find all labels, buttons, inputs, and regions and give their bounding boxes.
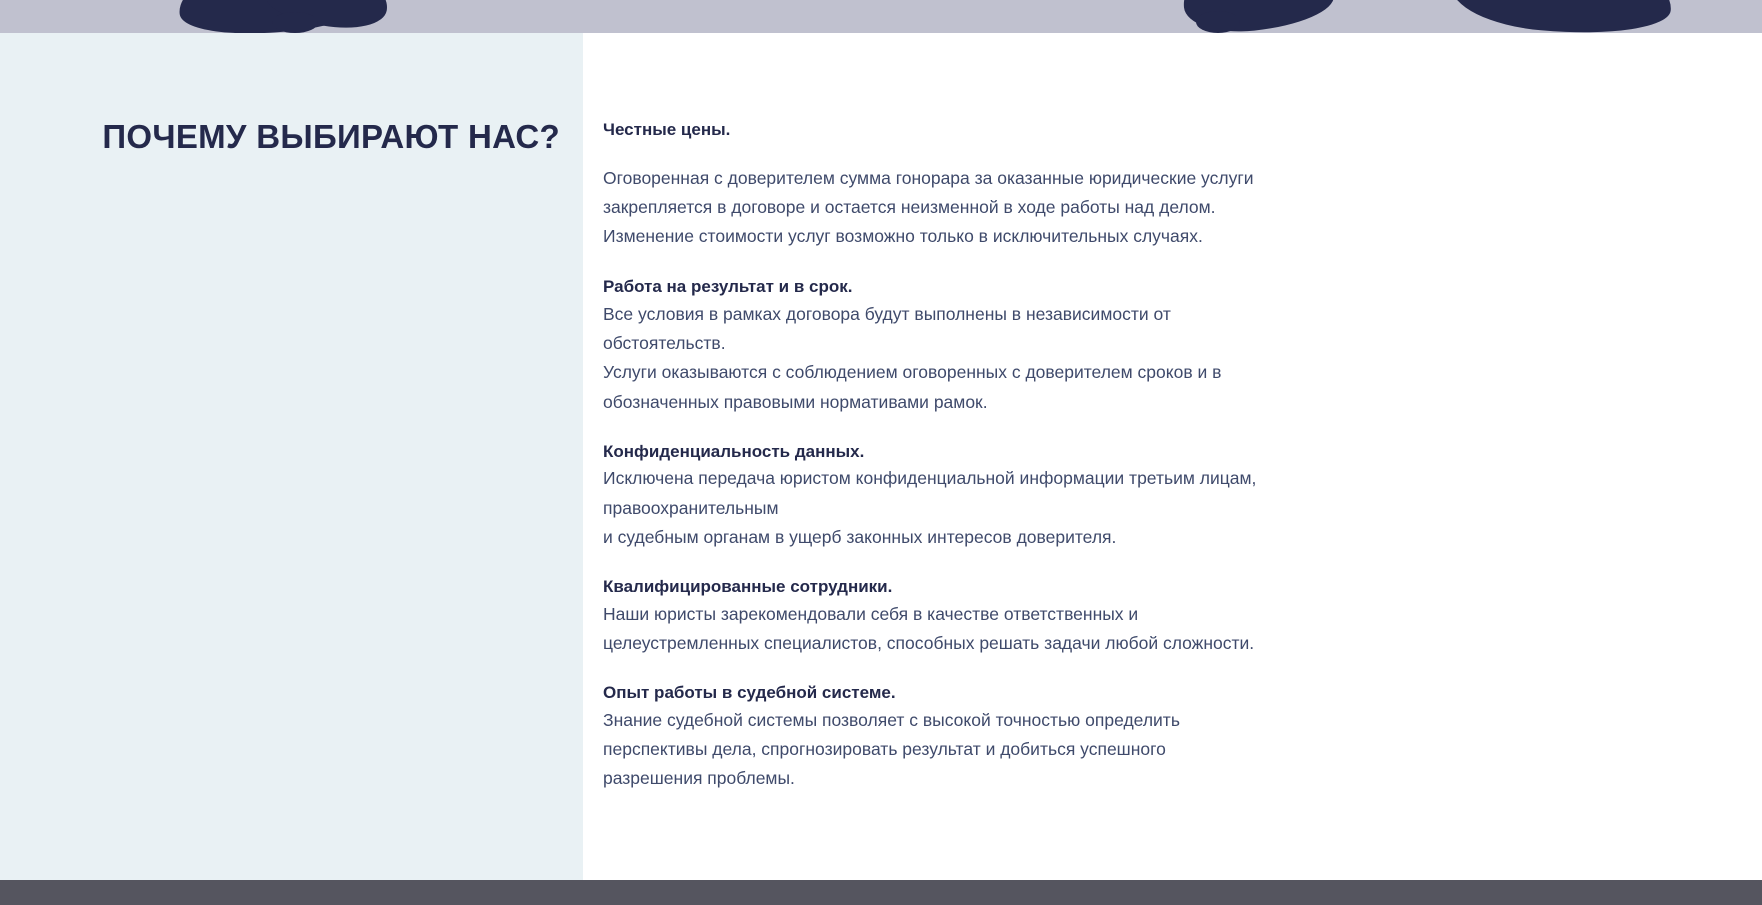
benefit-line: целеустремленных специалистов, способных… [603,629,1703,658]
decorative-blob-left-dot [272,12,318,33]
benefit-line: закрепляется в договоре и остается неизм… [603,193,1703,222]
right-content-panel: Честные цены. Оговоренная с доверителем … [583,33,1762,880]
decorative-blob-right-dot [1196,11,1240,33]
left-title-panel: ПОЧЕМУ ВЫБИРАЮТ НАС? [0,33,583,880]
benefit-heading: Квалифицированные сотрудники. [603,575,1703,600]
benefit-block: Конфиденциальность данных. Исключена пер… [603,440,1703,552]
benefit-heading: Работа на результат и в срок. [603,275,1703,300]
benefit-heading: Честные цены. [603,118,1703,143]
benefit-block: Квалифицированные сотрудники. Наши юрист… [603,575,1703,658]
benefit-block: Работа на результат и в срок. Все услови… [603,275,1703,417]
benefit-line: Оговоренная с доверителем сумма гонорара… [603,164,1703,193]
benefit-line: и судебным органам в ущерб законных инте… [603,523,1703,552]
benefit-line: правоохранительным [603,494,1703,523]
benefit-block: Опыт работы в судебной системе. Знание с… [603,681,1703,793]
footer-bar [0,880,1762,905]
top-decorative-banner [0,0,1762,33]
benefit-line: обстоятельств. [603,329,1703,358]
benefits-list: Честные цены. Оговоренная с доверителем … [603,118,1703,793]
benefit-line: Знание судебной системы позволяет с высо… [603,706,1703,735]
page-title: ПОЧЕМУ ВЫБИРАЮТ НАС? [40,118,560,156]
benefit-line: перспективы дела, спрогнозировать резуль… [603,735,1703,764]
content-area: ПОЧЕМУ ВЫБИРАЮТ НАС? Честные цены. Огово… [0,33,1762,880]
benefit-block: Честные цены. Оговоренная с доверителем … [603,118,1703,251]
page-root: ПОЧЕМУ ВЫБИРАЮТ НАС? Честные цены. Огово… [0,0,1762,905]
benefit-line: Услуги оказываются с соблюдением оговоре… [603,358,1703,387]
benefit-line: Наши юристы зарекомендовали себя в качес… [603,600,1703,629]
decorative-blob-right-main [1449,0,1675,33]
benefit-line: обозначенных правовыми нормативами рамок… [603,388,1703,417]
benefit-heading: Опыт работы в судебной системе. [603,681,1703,706]
benefit-line: Исключена передача юристом конфиденциаль… [603,464,1703,493]
benefit-heading: Конфиденциальность данных. [603,440,1703,465]
benefit-line: Все условия в рамках договора будут выпо… [603,300,1703,329]
benefit-line: Изменение стоимости услуг возможно тольк… [603,222,1703,251]
benefit-line: разрешения проблемы. [603,764,1703,793]
